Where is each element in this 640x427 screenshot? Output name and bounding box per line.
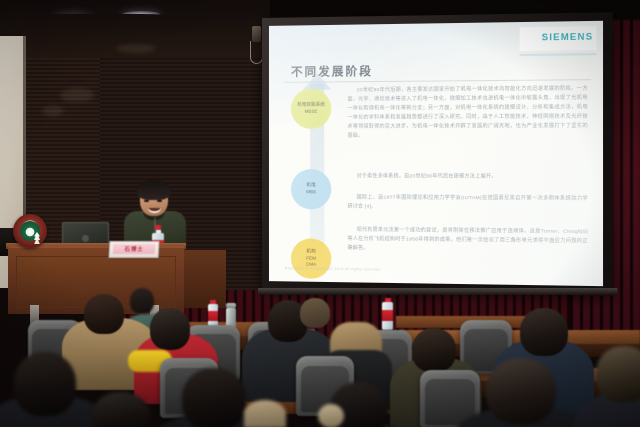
logo-underline (520, 53, 597, 56)
name-plate-text: 石博士 (124, 245, 143, 253)
audience-head (130, 288, 154, 314)
university-crest-icon (13, 214, 47, 248)
slide-paragraph: 对于柔性多体系统，自20世纪80年代后在建模方法上展开。 (348, 173, 588, 183)
wall-phone-icon[interactable] (252, 26, 261, 42)
projection-surface: SIEMENS 不同发展阶段 机电智能系统 MBSE 机电 MBS 机构 FEM… (269, 21, 603, 286)
wall-smudge (42, 106, 64, 116)
bottle-label (382, 310, 393, 321)
bottle-label (208, 311, 218, 321)
wall-smudge (116, 44, 156, 53)
speaker-eyebrow (143, 196, 151, 198)
slide-paragraph: 国际上，自1977年国际理论和应用力学学会(IUTAM)在德国慕尼黑召开第一次多… (348, 194, 588, 214)
audience-head (520, 308, 568, 356)
lecture-hall-photo: SIEMENS 不同发展阶段 机电智能系统 MBSE 机电 MBS 机构 FEM… (0, 0, 640, 427)
laptop-logo-icon (82, 235, 89, 242)
siemens-logo: SIEMENS (542, 31, 594, 42)
screen-bottom-frame (258, 288, 617, 295)
wall-smudge (60, 88, 94, 102)
hand (244, 400, 286, 427)
crest-tree-icon (34, 232, 40, 245)
audience-head (150, 308, 190, 350)
name-plate-insert: 石博士 (113, 244, 156, 254)
flask-cap (226, 303, 236, 308)
crest-center (20, 221, 40, 241)
audience-head (596, 346, 640, 402)
projection-screen: SIEMENS 不同发展阶段 机电智能系统 MBSE 机电 MBS 机构 FEM… (262, 12, 613, 295)
audience-hood (300, 298, 330, 328)
podium-side-panel (184, 250, 226, 308)
audience-head (486, 358, 556, 424)
stage-bubble-top: 机电智能系统 MBSE (291, 88, 331, 128)
audience-head (412, 328, 456, 372)
stage-bubble-bottom: 机构 FEM CMA (291, 238, 331, 279)
slide-paragraph: 现代有限单元法第一个成功的尝试，是将刚架位移法推广应用于连续体。这是Turner… (348, 227, 588, 257)
water-bottle (382, 298, 393, 330)
audience-head (84, 294, 124, 334)
presentation-slide: SIEMENS 不同发展阶段 机电智能系统 MBSE 机电 MBS 机构 FEM… (269, 21, 603, 286)
stage-bubble-middle: 机电 MBS (291, 169, 331, 209)
name-plate: 石博士 (109, 241, 160, 258)
audience-head (14, 352, 76, 416)
slide-paragraph: 20世纪90年代后期，各主要发达国家开始了机电一体化技术向智能化方向迅速发展的阶… (348, 85, 588, 141)
speaker-eyebrow (156, 196, 164, 198)
audience-head (182, 368, 246, 427)
hand (318, 404, 344, 427)
